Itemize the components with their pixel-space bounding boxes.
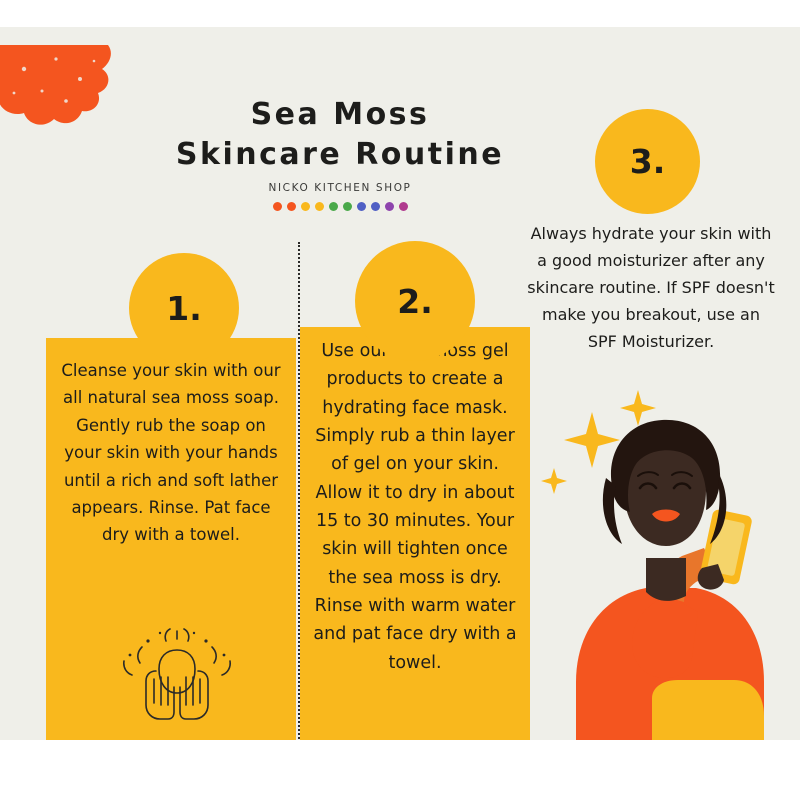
step-1-text: Cleanse your skin with our all natural s… xyxy=(60,357,282,549)
decorative-dots xyxy=(130,202,550,211)
title-line-1: Sea Moss xyxy=(130,95,550,135)
woman-taking-selfie-illustration xyxy=(520,382,790,740)
dot-10 xyxy=(399,202,408,211)
dot-7 xyxy=(357,202,366,211)
step-1-number-badge: 1. xyxy=(129,253,239,363)
title-block: Sea Moss Skincare Routine NICKO KITCHEN … xyxy=(130,95,550,211)
dot-4 xyxy=(315,202,324,211)
dotted-divider xyxy=(298,242,300,740)
infographic-canvas: Sea Moss Skincare Routine NICKO KITCHEN … xyxy=(0,27,800,740)
title-line-2: Skincare Routine xyxy=(130,135,550,175)
dot-2 xyxy=(287,202,296,211)
dot-6 xyxy=(343,202,352,211)
dot-3 xyxy=(301,202,310,211)
infographic-root: Sea Moss Skincare Routine NICKO KITCHEN … xyxy=(0,0,800,800)
dot-5 xyxy=(329,202,338,211)
step-3-text: Always hydrate your skin with a good moi… xyxy=(527,221,775,355)
step-2-number-badge: 2. xyxy=(355,241,475,361)
dot-8 xyxy=(371,202,380,211)
step-3-number-badge: 3. xyxy=(595,109,700,214)
hands-washing-face-icon xyxy=(118,627,236,732)
brand-name: NICKO KITCHEN SHOP xyxy=(130,182,550,194)
dot-1 xyxy=(273,202,282,211)
dot-9 xyxy=(385,202,394,211)
orange-paint-splash-icon xyxy=(0,45,140,155)
step-2-text: Use our sea moss gel products to create … xyxy=(306,337,524,677)
